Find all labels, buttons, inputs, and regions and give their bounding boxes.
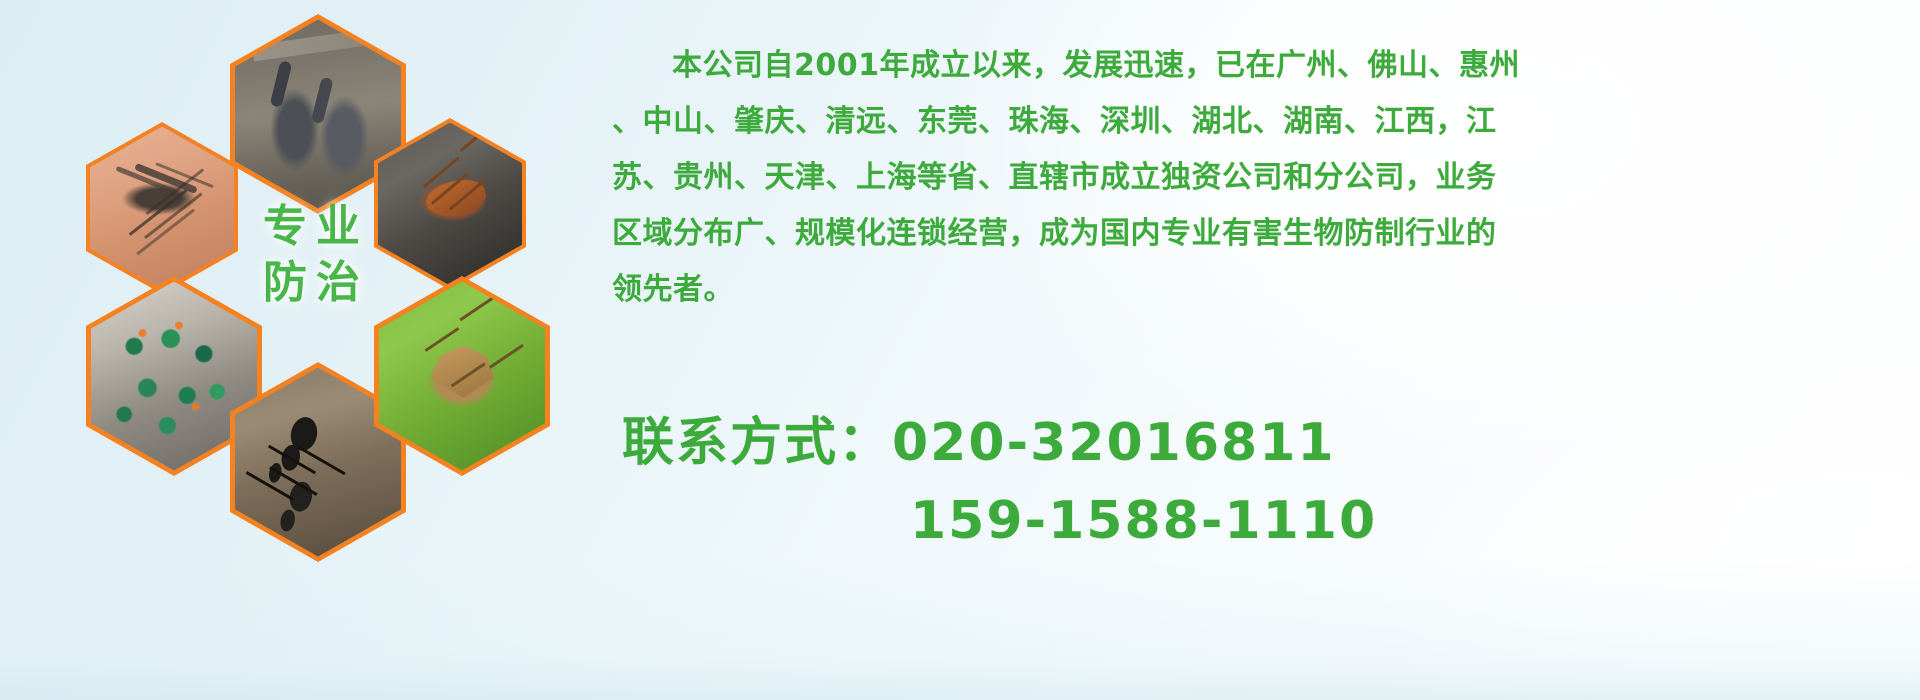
hex-center-label: 专业 防治 <box>236 199 396 312</box>
promo-banner: 专业 防治 本公司自2001年成立以来，发展迅速，已在广州、佛山、惠州 、中山、… <box>0 0 1920 700</box>
contact-block: 联系方式：020-32016811 159-1588-1110 <box>622 404 1920 560</box>
hex-label-line2: 防治 <box>236 255 396 311</box>
hexagon-photo-cluster: 专业 防治 <box>86 14 586 559</box>
intro-line-5: 领先者。 <box>612 262 1912 318</box>
intro-line-3: 苏、贵州、天津、上海等省、直辖市成立独资公司和分公司，业务 <box>612 150 1912 206</box>
stink-bug-image <box>379 282 545 471</box>
intro-line-1: 本公司自2001年成立以来，发展迅速，已在广州、佛山、惠州 <box>612 38 1912 94</box>
contact-phone-primary[interactable]: 联系方式：020-32016811 <box>622 404 1920 482</box>
intro-line-4: 区域分布广、规模化连锁经营，成为国内专业有害生物防制行业的 <box>612 206 1912 262</box>
hex-photo-mosquito <box>86 122 238 294</box>
intro-line-2: 、中山、肇庆、清远、东莞、珠海、深圳、湖北、湖南、江西，江 <box>612 94 1912 150</box>
cockroach-image <box>378 123 522 286</box>
company-intro-paragraph: 本公司自2001年成立以来，发展迅速，已在广州、佛山、惠州 、中山、肇庆、清远、… <box>612 38 1912 318</box>
mosquito-image <box>90 127 234 290</box>
contact-phone-mobile[interactable]: 159-1588-1110 <box>622 482 1920 560</box>
